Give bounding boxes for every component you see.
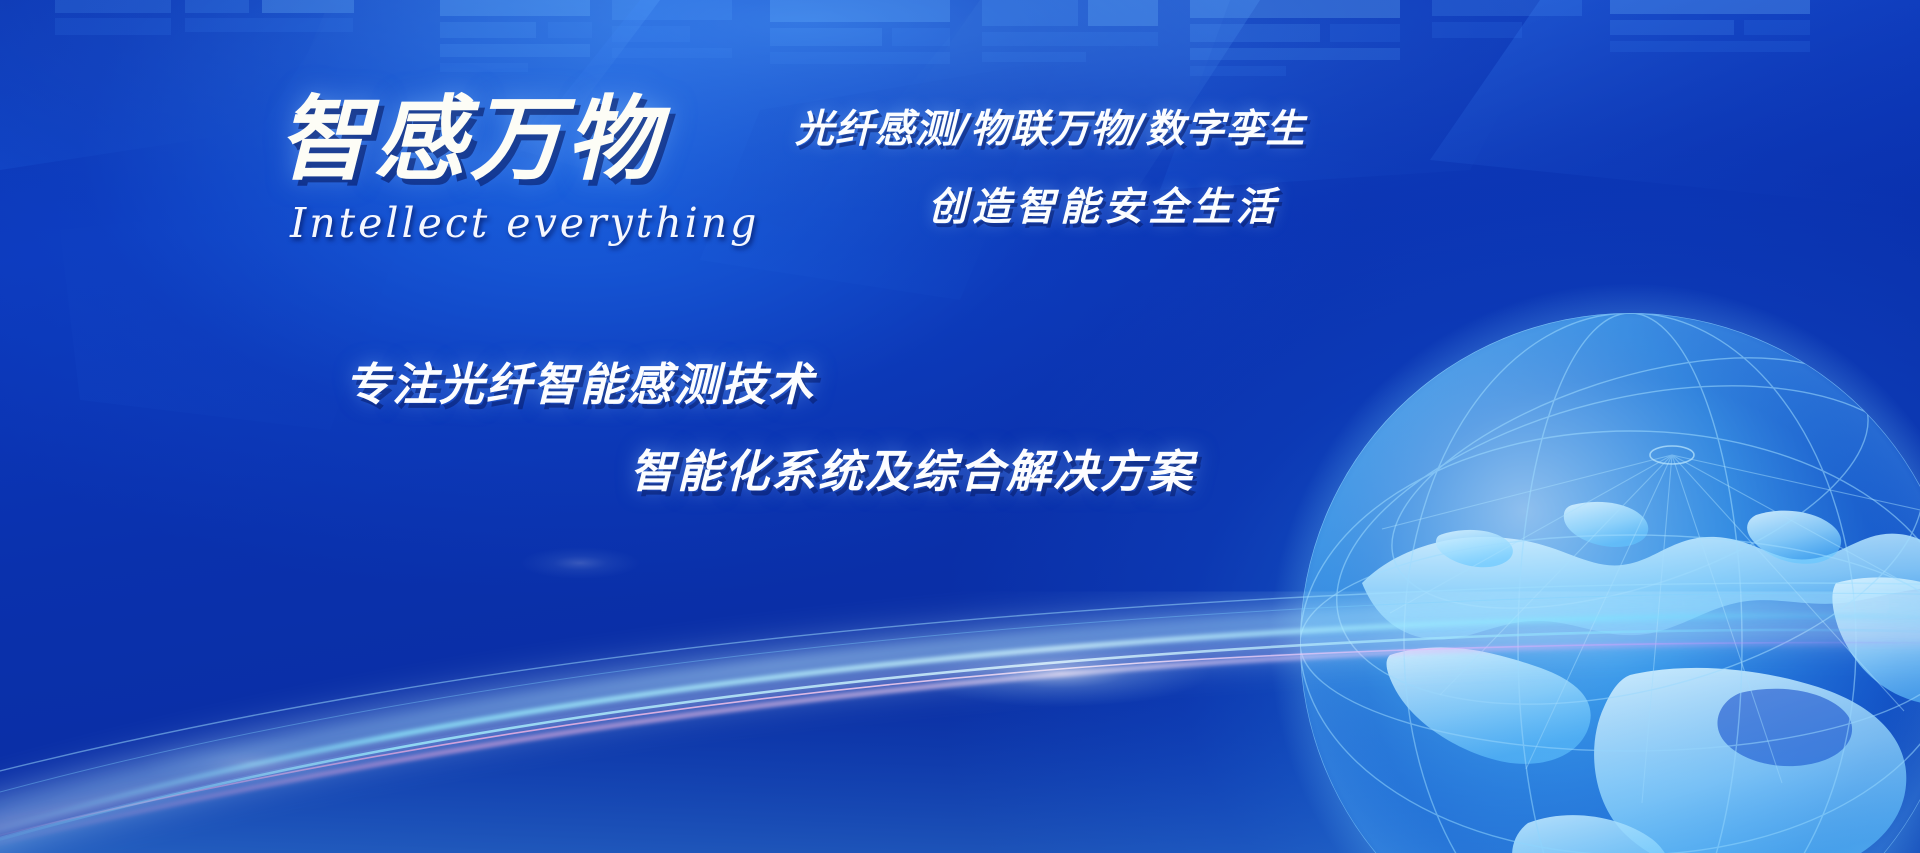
tagline-line-2: 创造智能安全生活 bbox=[795, 176, 1435, 232]
page-title: 智感万物 bbox=[278, 92, 759, 189]
promo-banner: 智感万物 Intellect everything 光纤感测/物联万物/数字孪生… bbox=[0, 0, 1920, 853]
tagline-block: 光纤感测/物联万物/数字孪生 创造智能安全生活 bbox=[795, 98, 1435, 232]
tagline-line-1: 光纤感测/物联万物/数字孪生 bbox=[795, 98, 1435, 154]
headline-block: 智感万物 Intellect everything bbox=[278, 92, 759, 247]
slogan-block: 专注光纤智能感测技术 智能化系统及综合解决方案 bbox=[345, 348, 1194, 500]
page-subtitle-english: Intellect everything bbox=[290, 199, 759, 247]
banner-text-content: 智感万物 Intellect everything 光纤感测/物联万物/数字孪生… bbox=[0, 0, 1920, 853]
slogan-line-2: 智能化系统及综合解决方案 bbox=[630, 435, 1194, 500]
slogan-line-1: 专注光纤智能感测技术 bbox=[345, 348, 1194, 413]
